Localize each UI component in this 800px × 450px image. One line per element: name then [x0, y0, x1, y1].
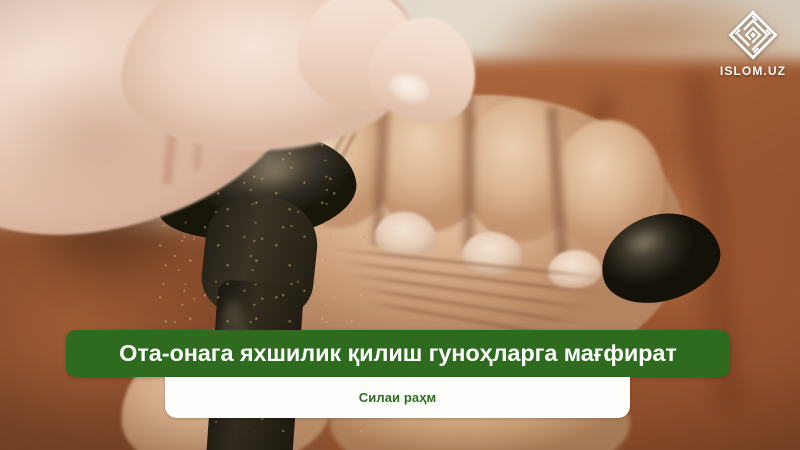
caption-title: Ота-онага яхшилик қилиш гуноҳларга мағфи…	[119, 342, 677, 366]
site-logo[interactable]: ISLOM.UZ	[716, 8, 790, 84]
caption-subtitle: Силаи раҳм	[359, 391, 437, 404]
image-banner: ISLOM.UZ Ота-онага яхшилик қилиш гуноҳла…	[0, 0, 800, 450]
islom-uz-kufic-emblem-icon	[726, 8, 780, 62]
caption-title-bar: Ота-онага яхшилик қилиш гуноҳларга мағфи…	[66, 330, 730, 377]
finger-groove	[460, 95, 478, 250]
logo-wordmark: ISLOM.UZ	[720, 65, 786, 77]
caption-subtitle-bar[interactable]: Силаи раҳм	[165, 377, 630, 418]
